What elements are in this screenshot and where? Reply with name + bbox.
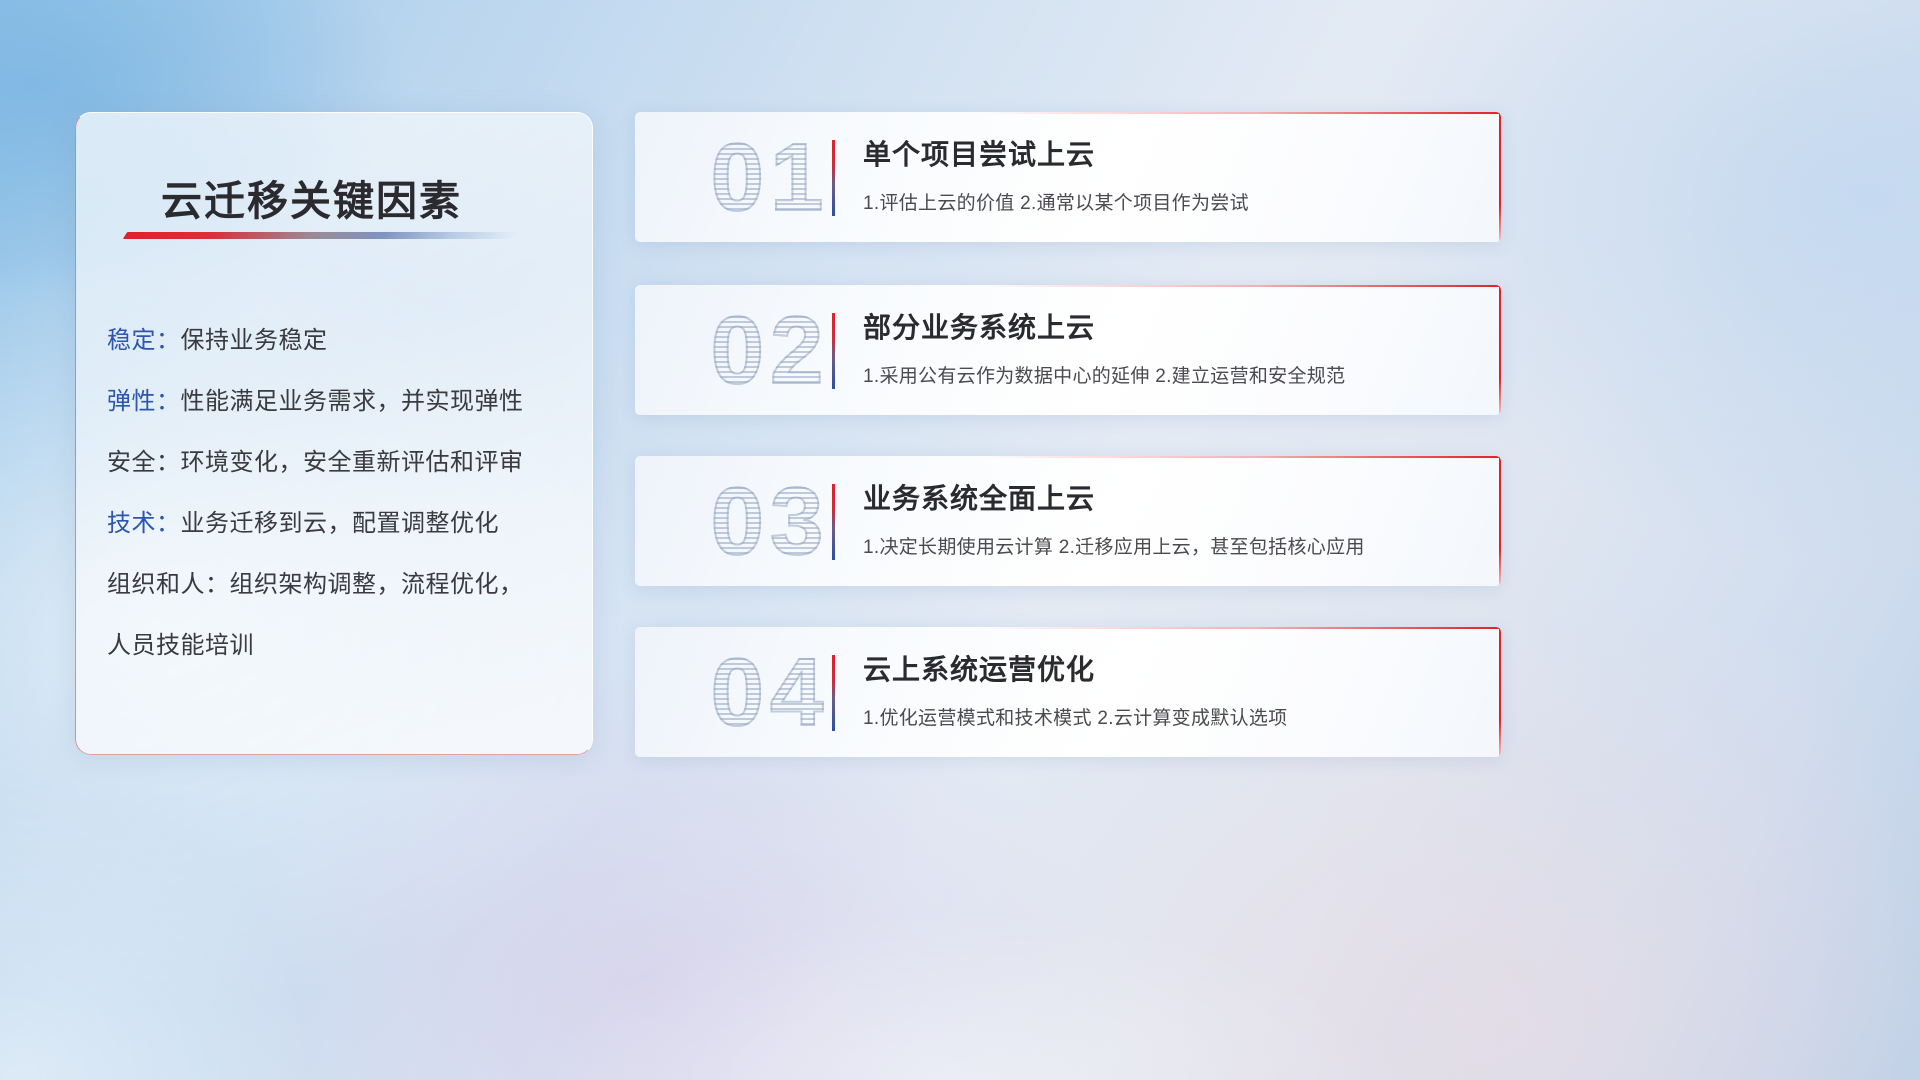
stage-card-03[interactable]: 03 业务系统全面上云 1.决定长期使用云计算 2.迁移应用上云，甚至包括核心应…: [635, 456, 1501, 586]
list-item-label: 技术：: [107, 510, 181, 537]
list-item: 安全：环境变化，安全重新评估和评审: [107, 432, 577, 493]
list-item-text: 环境变化，安全重新评估和评审: [181, 449, 524, 476]
stage-subtitle: 1.评估上云的价值 2.通常以某个项目作为尝试: [863, 188, 1249, 215]
stage-card-01[interactable]: 01 单个项目尝试上云 1.评估上云的价值 2.通常以某个项目作为尝试: [635, 112, 1501, 242]
stage-title: 云上系统运营优化: [863, 648, 1095, 688]
list-item-label: 弹性：: [107, 388, 181, 415]
list-item-text: 保持业务稳定: [181, 327, 328, 354]
stage-card-04[interactable]: 04 云上系统运营优化 1.优化运营模式和技术模式 2.云计算变成默认选项: [635, 627, 1501, 757]
accent-bar: [832, 140, 835, 216]
page-title: 云迁移关键因素: [161, 167, 462, 227]
key-factors-list: 稳定：保持业务稳定 弹性：性能满足业务需求，并实现弹性 安全：环境变化，安全重新…: [107, 310, 577, 676]
list-item-text: 人员技能培训: [107, 632, 254, 659]
accent-bar: [832, 655, 835, 731]
list-item: 组织和人：组织架构调整，流程优化，: [107, 554, 577, 615]
stage-subtitle: 1.采用公有云作为数据中心的延伸 2.建立运营和安全规范: [863, 361, 1345, 388]
list-item: 技术：业务迁移到云，配置调整优化: [107, 493, 577, 554]
stage-number-watermark: 02: [660, 291, 880, 411]
title-underline-accent: [123, 232, 517, 239]
stage-title: 部分业务系统上云: [863, 306, 1095, 346]
stage-subtitle: 1.优化运营模式和技术模式 2.云计算变成默认选项: [863, 703, 1287, 730]
stage-title: 业务系统全面上云: [863, 477, 1095, 517]
list-item-label: 安全：: [107, 449, 181, 476]
list-item-label: 稳定：: [107, 327, 181, 354]
stage-card-02[interactable]: 02 部分业务系统上云 1.采用公有云作为数据中心的延伸 2.建立运营和安全规范: [635, 285, 1501, 415]
stage-number-watermark: 04: [660, 633, 880, 753]
stage-title: 单个项目尝试上云: [863, 133, 1095, 173]
accent-bar: [832, 313, 835, 389]
stage-number-watermark: 01: [660, 118, 880, 238]
list-item: 弹性：性能满足业务需求，并实现弹性: [107, 371, 577, 432]
list-item-text: 组织架构调整，流程优化，: [230, 571, 524, 598]
list-item-text: 业务迁移到云，配置调整优化: [181, 510, 500, 537]
stage-number-watermark: 03: [660, 462, 880, 582]
key-factors-panel: 云迁移关键因素 稳定：保持业务稳定 弹性：性能满足业务需求，并实现弹性 安全：环…: [75, 112, 593, 755]
list-item: 人员技能培训: [107, 615, 577, 676]
stage-subtitle: 1.决定长期使用云计算 2.迁移应用上云，甚至包括核心应用: [863, 532, 1365, 559]
accent-bar: [832, 484, 835, 560]
list-item-label: 组织和人：: [107, 571, 230, 598]
list-item: 稳定：保持业务稳定: [107, 310, 577, 371]
list-item-text: 性能满足业务需求，并实现弹性: [181, 388, 524, 415]
